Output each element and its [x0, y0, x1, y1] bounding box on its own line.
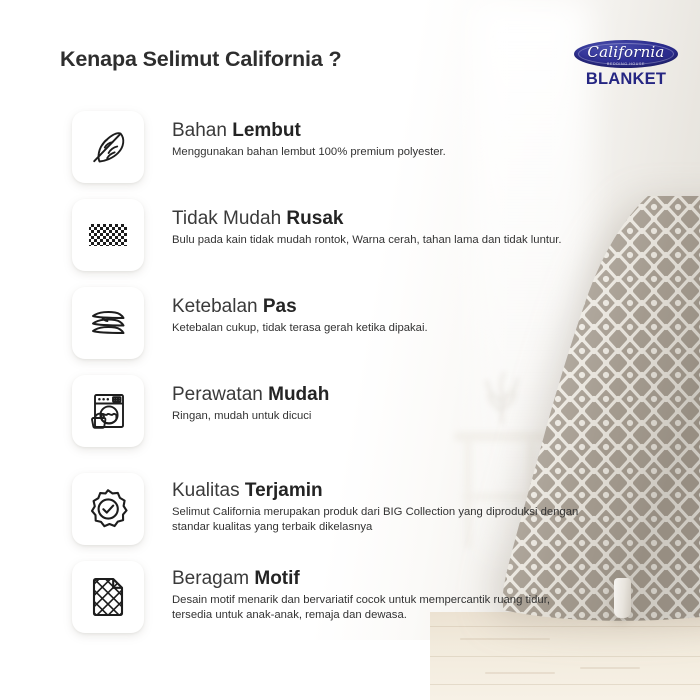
feature-title-bold: Motif	[254, 568, 299, 589]
feature-row: Perawatan Mudah Ringan, mudah untuk dicu…	[72, 375, 329, 447]
feature-row: Kualitas Terjamin Selimut California mer…	[72, 473, 582, 545]
page-title: Kenapa Selimut California ?	[60, 47, 341, 72]
feature-title-regular: Beragam	[172, 568, 254, 589]
brand-script-name: California	[574, 43, 678, 62]
feature-row: Beragam Motif Desain motif menarik dan b…	[72, 561, 582, 633]
feature-icon-card	[72, 473, 144, 545]
feature-description: Menggunakan bahan lembut 100% premium po…	[172, 145, 446, 160]
feature-title-bold: Rusak	[286, 208, 343, 229]
feature-title: Kualitas Terjamin	[172, 479, 582, 502]
feature-row: Tidak Mudah Rusak Bulu pada kain tidak m…	[72, 199, 562, 271]
feature-title-regular: Kualitas	[172, 480, 245, 501]
feature-title: Perawatan Mudah	[172, 383, 329, 406]
feature-text: Perawatan Mudah Ringan, mudah untuk dicu…	[172, 375, 329, 424]
feature-title: Tidak Mudah Rusak	[172, 207, 562, 230]
feature-title-bold: Terjamin	[245, 480, 323, 501]
feature-title-regular: Ketebalan	[172, 296, 263, 317]
feature-icon-card	[72, 111, 144, 183]
feature-description: Desain motif menarik dan bervariatif coc…	[172, 593, 582, 622]
feature-text: Ketebalan Pas Ketebalan cukup, tidak ter…	[172, 287, 428, 336]
feature-text: Tidak Mudah Rusak Bulu pada kain tidak m…	[172, 199, 562, 248]
feature-text: Kualitas Terjamin Selimut California mer…	[172, 473, 582, 534]
feature-title-regular: Perawatan	[172, 384, 268, 405]
feature-title-regular: Tidak Mudah	[172, 208, 286, 229]
fabric-layers-icon	[85, 300, 131, 346]
promo-banner: Kenapa Selimut California ? California B…	[0, 0, 700, 700]
brand-oval-badge: California BEDDING HOUSE	[574, 40, 678, 68]
feature-title: Beragam Motif	[172, 567, 582, 590]
brand-script-tagline: BEDDING HOUSE	[574, 62, 678, 67]
feature-text: Bahan Lembut Menggunakan bahan lembut 10…	[172, 111, 446, 160]
feature-description: Selimut California merupakan produk dari…	[172, 505, 582, 534]
feature-icon-card	[72, 199, 144, 271]
brand-logo: California BEDDING HOUSE BLANKET	[570, 40, 682, 92]
feature-text: Beragam Motif Desain motif menarik dan b…	[172, 561, 582, 622]
fabric-weave-icon	[85, 212, 131, 258]
feature-title-bold: Pas	[263, 296, 297, 317]
washing-machine-icon	[85, 388, 131, 434]
feature-icon-card	[72, 375, 144, 447]
brand-word: BLANKET	[570, 70, 682, 89]
feature-icon-card	[72, 561, 144, 633]
feature-description: Ringan, mudah untuk dicuci	[172, 409, 329, 424]
feature-row: Bahan Lembut Menggunakan bahan lembut 10…	[72, 111, 446, 183]
feather-icon	[85, 124, 131, 170]
feature-title-bold: Mudah	[268, 384, 329, 405]
feature-description: Ketebalan cukup, tidak terasa gerah keti…	[172, 321, 428, 336]
feature-title: Ketebalan Pas	[172, 295, 428, 318]
feature-description: Bulu pada kain tidak mudah rontok, Warna…	[172, 233, 562, 248]
feature-icon-card	[72, 287, 144, 359]
feature-title-regular: Bahan	[172, 120, 232, 141]
feature-title: Bahan Lembut	[172, 119, 446, 142]
fabric-swatch-icon	[85, 574, 131, 620]
feature-title-bold: Lembut	[232, 120, 301, 141]
feature-row: Ketebalan Pas Ketebalan cukup, tidak ter…	[72, 287, 428, 359]
quality-badge-icon	[85, 486, 131, 532]
